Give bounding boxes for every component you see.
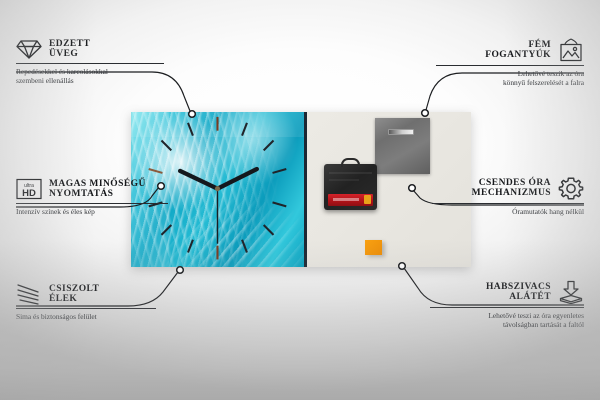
feature-subtitle-line1: Lehetővé teszik az óra (436, 69, 584, 78)
ultra-hd-badge-icon: ultra HD (16, 178, 42, 200)
feature-polished-edges: CSISZOLT ÉLEK Sima és biztonságos felüle… (16, 283, 156, 321)
feature-divider (16, 203, 168, 204)
feature-title-line1: EDZETT (49, 39, 90, 49)
feature-title-line2: ALÁTÉT (509, 292, 551, 302)
battery (328, 194, 373, 206)
battery-label-band (333, 198, 359, 201)
feature-tempered-glass: EDZETT ÜVEG Repedésekkel és karcolásokka… (16, 38, 164, 86)
feature-title-line1: HABSZIVACS (486, 282, 551, 292)
minute-hand (217, 169, 256, 189)
foam-pad (365, 240, 382, 255)
feature-header: CSISZOLT ÉLEK (16, 283, 156, 305)
hands-pivot (215, 186, 220, 191)
feature-header: HABSZIVACS ALÁTÉT (430, 280, 584, 304)
feature-header: EDZETT ÜVEG (16, 38, 164, 60)
feature-divider (432, 203, 584, 204)
feature-titles: CSISZOLT ÉLEK (49, 284, 99, 304)
feature-quiet-mechanism: CSENDES ÓRA MECHANIZMUS Óramutatók hang … (432, 176, 584, 216)
infographic-stage: EDZETT ÜVEG Repedésekkel és karcolásokka… (0, 0, 600, 400)
hour-hand (180, 171, 217, 189)
mechanism-loop (341, 158, 360, 167)
feature-title-line2: NYOMTATÁS (49, 189, 146, 199)
feature-subtitle-line2: távolságban tartását a faltól (430, 320, 584, 329)
clock-mechanism-box (324, 164, 377, 210)
feature-divider (436, 65, 584, 66)
mechanism-ridge-secondary (329, 179, 359, 181)
feature-divider (430, 307, 584, 308)
feature-title-line2: ÜVEG (49, 49, 90, 59)
feature-subtitle-line1: Repedésekkel és karcolásokkal (16, 67, 164, 76)
feature-metal-handles: FÉM FOGANTYÚK Lehetővé teszik az óra kön… (436, 38, 584, 88)
feature-subtitle-line2: szembeni ellenállás (16, 76, 164, 85)
battery-plus-terminal (364, 195, 371, 204)
feature-title-line1: CSENDES ÓRA (479, 178, 551, 188)
polished-edge-lines-icon (16, 283, 42, 305)
feature-subtitle-line1: Óramutatók hang nélkül (432, 207, 584, 216)
feature-divider (16, 63, 164, 64)
foam-pad-arrow-icon (558, 280, 584, 304)
feature-subtitle-line2: könnyű felszerelését a falra (436, 78, 584, 87)
feature-title-line2: FOGANTYÚK (485, 50, 551, 60)
feature-title-line1: FÉM (529, 40, 551, 50)
feature-subtitle-line1: Intenzív színek és éles kép (16, 207, 168, 216)
metal-hanger-plate (375, 118, 430, 174)
feature-titles: MAGAS MINŐSÉGŰ NYOMTATÁS (49, 179, 146, 199)
feature-subtitle-line1: Lehetővé teszi az óra egyenletes (430, 311, 584, 320)
mechanism-ridge (329, 172, 372, 174)
feature-subtitle-line1: Sima és biztonságos felület (16, 312, 156, 321)
feature-titles: EDZETT ÜVEG (49, 39, 90, 59)
feature-titles: FÉM FOGANTYÚK (485, 40, 551, 60)
feature-title-line2: ÉLEK (49, 294, 99, 304)
feature-titles: HABSZIVACS ALÁTÉT (486, 282, 551, 302)
diamond-icon (16, 38, 42, 60)
feature-divider (16, 308, 156, 309)
picture-hanger-icon (558, 38, 584, 62)
feature-hd-print: ultra HD MAGAS MINŐSÉGŰ NYOMTATÁS Intenz… (16, 178, 168, 216)
feature-header: CSENDES ÓRA MECHANIZMUS (432, 176, 584, 200)
svg-text:HD: HD (22, 188, 36, 199)
wire-endpoint-edges (177, 267, 184, 274)
feature-foam-pad: HABSZIVACS ALÁTÉT Lehetővé teszi az óra … (430, 280, 584, 330)
product-image (131, 112, 471, 267)
feature-header: FÉM FOGANTYÚK (436, 38, 584, 62)
feature-title-line2: MECHANIZMUS (472, 188, 551, 198)
gear-icon (558, 176, 584, 200)
feature-title-line1: CSISZOLT (49, 284, 99, 294)
feature-header: ultra HD MAGAS MINŐSÉGŰ NYOMTATÁS (16, 178, 168, 200)
feature-titles: CSENDES ÓRA MECHANIZMUS (472, 178, 551, 198)
hanger-slot (388, 129, 414, 135)
feature-title-line1: MAGAS MINŐSÉGŰ (49, 179, 146, 189)
